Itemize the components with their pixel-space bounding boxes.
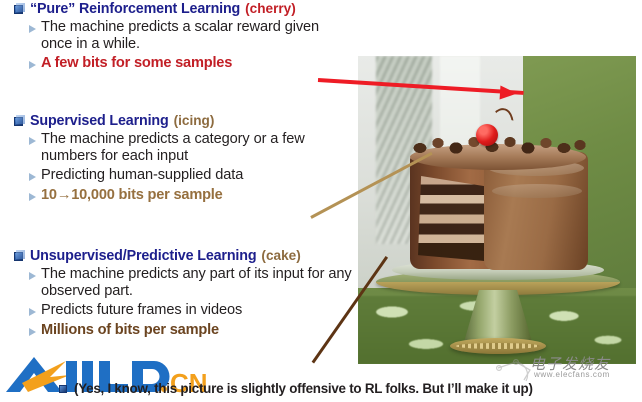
- blue-square-bullet-icon: [59, 385, 69, 395]
- section-heading: Supervised Learning (icing): [14, 114, 354, 129]
- slide-canvas: “Pure” Reinforcement Learning (cherry) T…: [0, 0, 642, 402]
- list-item-text: Predicting human-supplied data: [41, 167, 243, 184]
- triangle-bullet-icon: [29, 25, 36, 33]
- list-item-text-highlight: Millions of bits per sample: [41, 322, 219, 339]
- triangle-bullet-icon: [29, 137, 36, 145]
- section-heading: “Pure” Reinforcement Learning (cherry): [14, 2, 354, 17]
- section-title: Unsupervised/Predictive Learning: [30, 249, 256, 264]
- section-paren-label: (cherry): [245, 2, 296, 16]
- list-item: The machine predicts a category or a few…: [29, 131, 354, 165]
- section-title: “Pure” Reinforcement Learning: [30, 2, 240, 17]
- blue-square-bullet-icon: [14, 252, 25, 263]
- list-item-text-highlight: 10→10,000 bits per sample: [41, 187, 223, 204]
- blue-square-bullet-icon: [14, 5, 25, 16]
- footer-note: (Yes, I know, this picture is slightly o…: [74, 381, 533, 396]
- list-item: The machine predicts a scalar reward giv…: [29, 19, 354, 53]
- chocolate-shavings: [408, 134, 588, 160]
- list-item-text-highlight: A few bits for some samples: [41, 55, 232, 72]
- elecfans-watermark-url: www.elecfans.com: [534, 370, 610, 379]
- triangle-bullet-icon: [29, 193, 36, 201]
- triangle-bullet-icon: [29, 308, 36, 316]
- blue-square-bullet-icon: [14, 117, 25, 128]
- list-item: 10→10,000 bits per sample: [29, 187, 354, 204]
- triangle-bullet-icon: [29, 328, 36, 336]
- section-unsupervised-predictive-learning: Unsupervised/Predictive Learning (cake) …: [14, 249, 354, 339]
- cherry-icon: [476, 124, 498, 146]
- section-paren-label: (icing): [174, 114, 215, 128]
- cake-photo: [358, 56, 636, 364]
- list-item: Predicting human-supplied data: [29, 167, 354, 184]
- list-item: A few bits for some samples: [29, 55, 354, 72]
- list-item-text: The machine predicts a category or a few…: [41, 131, 354, 165]
- list-item: Millions of bits per sample: [29, 322, 354, 339]
- section-supervised-learning: Supervised Learning (icing) The machine …: [14, 114, 354, 204]
- list-item-text: Predicts future frames in videos: [41, 302, 242, 319]
- section-heading: Unsupervised/Predictive Learning (cake): [14, 249, 354, 264]
- section-title: Supervised Learning: [30, 114, 169, 129]
- section-paren-label: (cake): [261, 249, 300, 263]
- cake-icing-highlight: [492, 184, 582, 198]
- list-item: Predicts future frames in videos: [29, 302, 354, 319]
- list-item: The machine predicts any part of its inp…: [29, 266, 354, 300]
- arrow-to-cherry-head-icon: [500, 85, 518, 100]
- triangle-bullet-icon: [29, 61, 36, 69]
- triangle-bullet-icon: [29, 272, 36, 280]
- section-reinforcement-learning: “Pure” Reinforcement Learning (cherry) T…: [14, 2, 354, 73]
- list-item-text: The machine predicts a scalar reward giv…: [41, 19, 354, 53]
- list-item-text: The machine predicts any part of its inp…: [41, 266, 354, 300]
- triangle-bullet-icon: [29, 173, 36, 181]
